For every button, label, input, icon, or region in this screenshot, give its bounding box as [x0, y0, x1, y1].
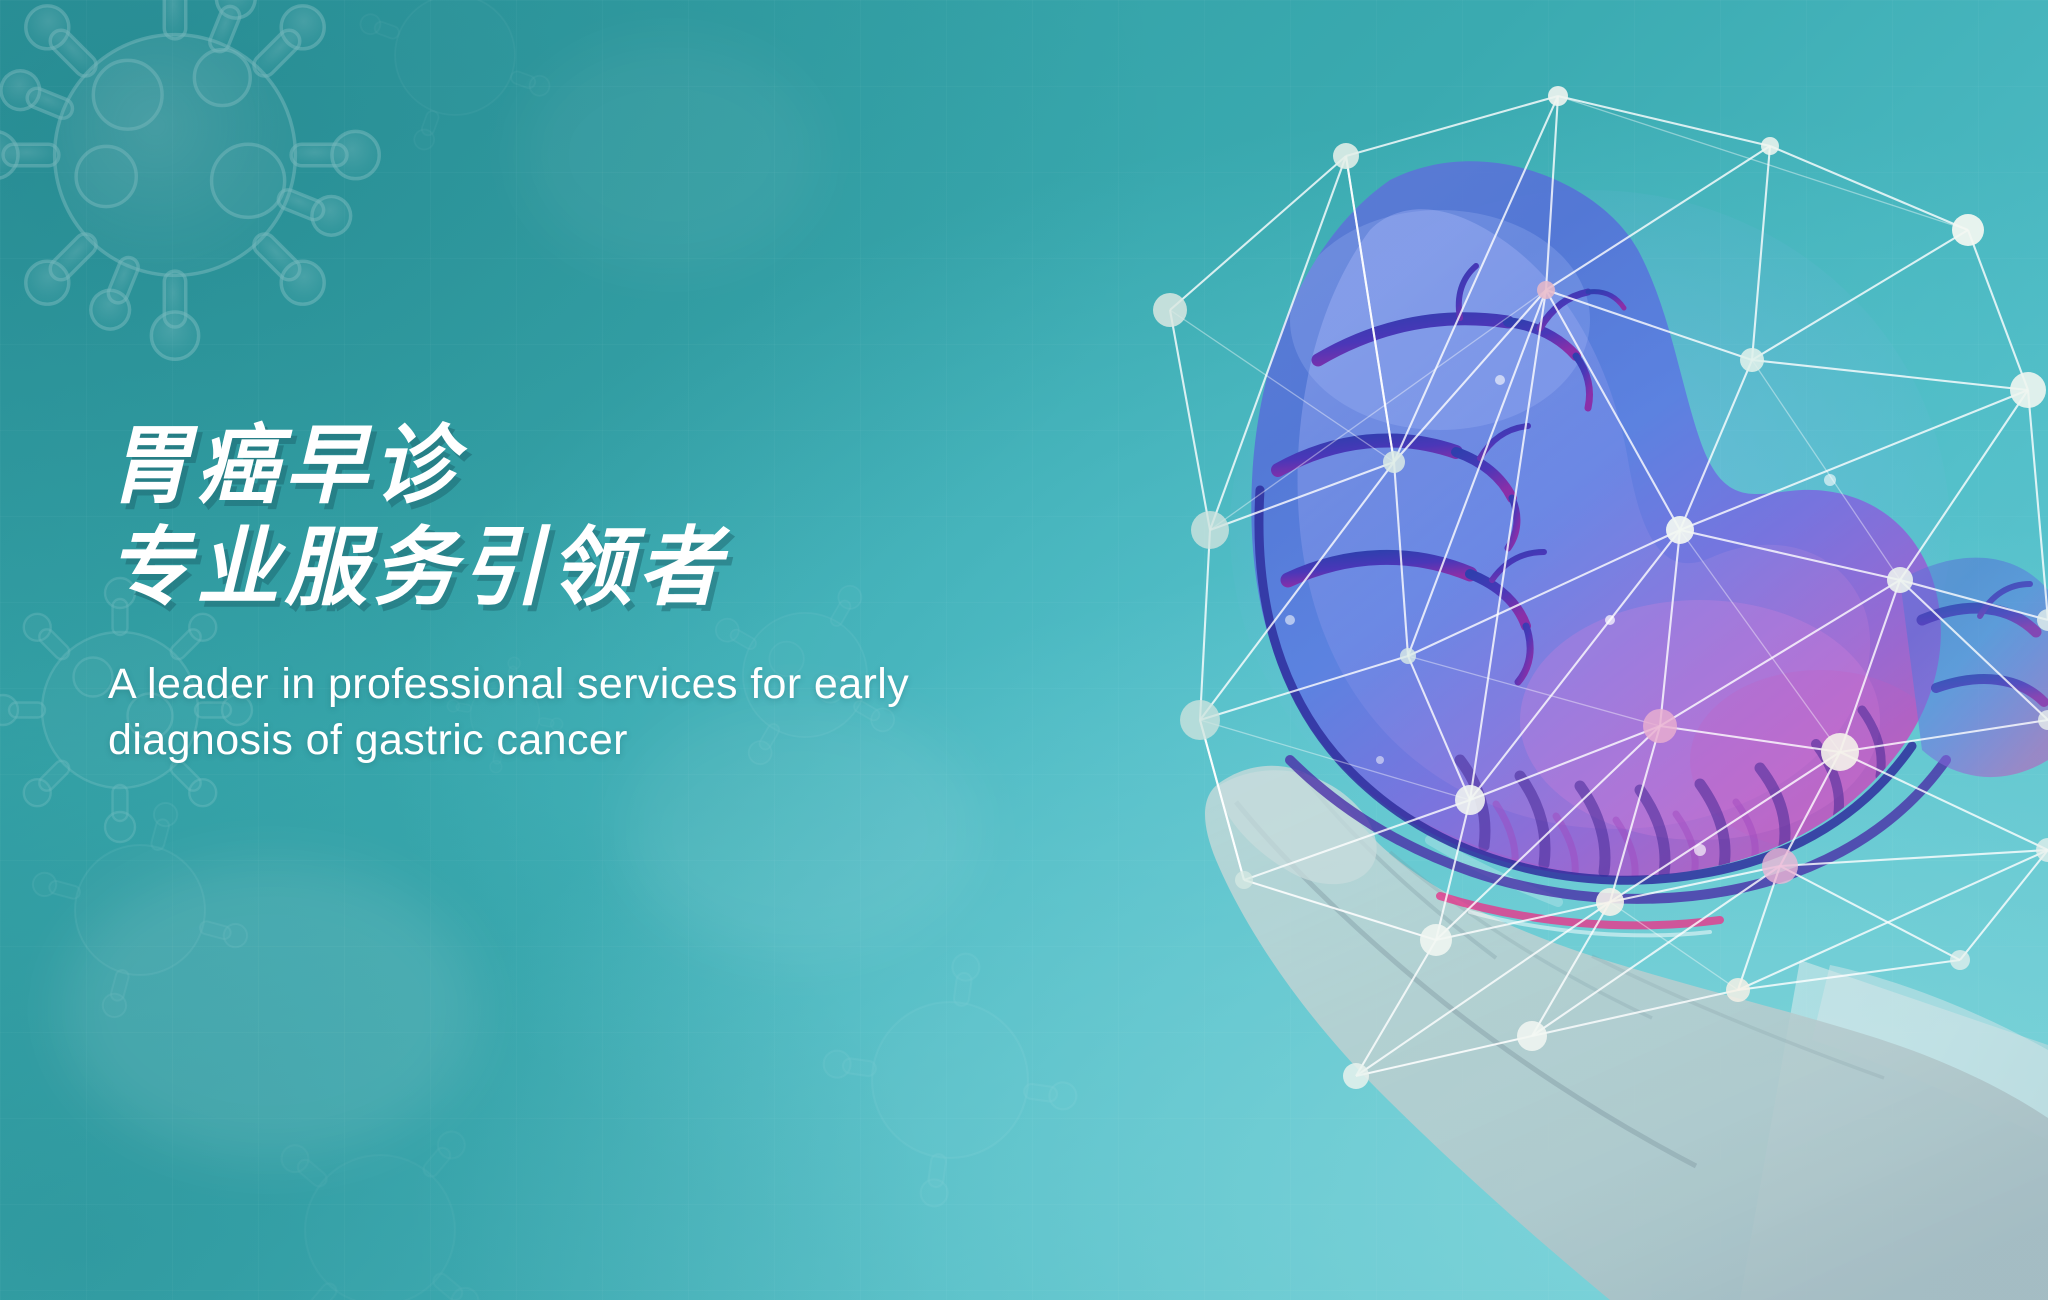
headline-line-1: 胃癌早诊 — [108, 418, 1068, 514]
stomach-network-illustration — [1140, 60, 2048, 1300]
subtitle-line-1: A leader in professional services for ea… — [108, 657, 1108, 713]
subtitle-line-2: diagnosis of gastric cancer — [108, 713, 1108, 769]
hero-text-block: 胃癌早诊 专业服务引领者 A leader in professional se… — [108, 418, 1108, 768]
hero-banner: 胃癌早诊 专业服务引领者 A leader in professional se… — [0, 0, 2048, 1300]
headline-line-2: 专业服务引领者 — [108, 520, 1068, 616]
subtitle: A leader in professional services for ea… — [108, 657, 1108, 769]
